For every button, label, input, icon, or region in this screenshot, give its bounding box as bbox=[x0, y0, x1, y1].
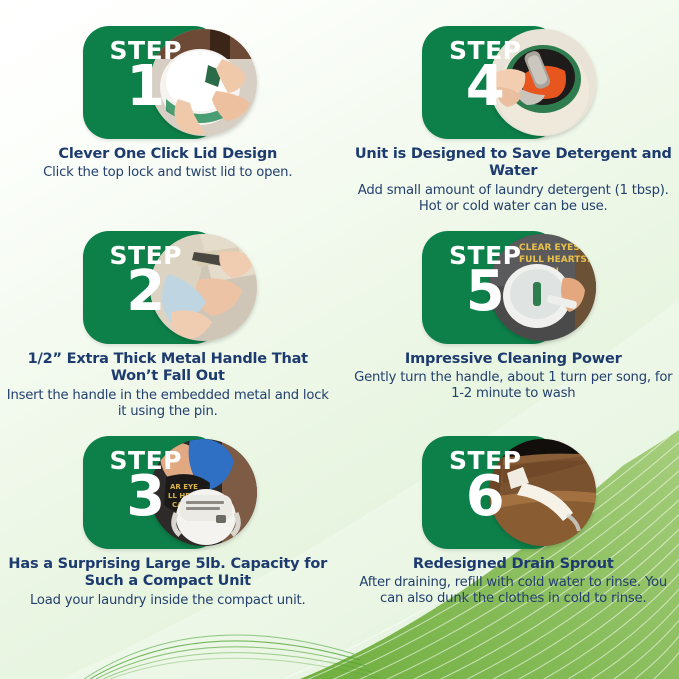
step-title: 1/2” Extra Thick Metal Handle That Won’t… bbox=[4, 351, 332, 386]
step-body: Add small amount of laundry detergent (1… bbox=[350, 183, 678, 215]
badge-text: STEP 4 bbox=[429, 38, 541, 115]
step-caption-1: Clever One Click Lid Design Click the to… bbox=[0, 146, 338, 181]
step-badge-1: STEP 1 bbox=[83, 26, 257, 139]
badge-number-label: 2 bbox=[90, 264, 202, 320]
badge-number-label: 4 bbox=[429, 59, 541, 115]
step-body: Gently turn the handle, about 1 turn per… bbox=[350, 370, 678, 402]
step-caption-3: Has a Surprising Large 5lb. Capacity for… bbox=[0, 556, 338, 609]
steps-grid: STEP 1 bbox=[0, 0, 679, 679]
badge-text: STEP 6 bbox=[429, 448, 541, 525]
badge-number-label: 1 bbox=[90, 59, 202, 115]
step-title: Clever One Click Lid Design bbox=[4, 146, 332, 163]
step-caption-6: Redesigned Drain Sprout After draining, … bbox=[344, 556, 679, 608]
step-caption-2: 1/2” Extra Thick Metal Handle That Won’t… bbox=[0, 351, 338, 420]
step-card-5[interactable]: STEP 5 CLEAR EYES. FULL HEARTS. OSE! bbox=[340, 231, 679, 436]
step-badge-6: STEP 6 bbox=[422, 436, 596, 549]
infographic-canvas: STEP 1 bbox=[0, 0, 679, 679]
step-badge-2: STEP 2 bbox=[83, 231, 257, 344]
step-card-6[interactable]: STEP 6 bbox=[340, 436, 679, 641]
step-card-2[interactable]: STEP 2 bbox=[0, 231, 340, 436]
step-card-4[interactable]: STEP 4 bbox=[340, 26, 679, 231]
step-caption-4: Unit is Designed to Save Detergent and W… bbox=[344, 146, 679, 215]
step-title: Redesigned Drain Sprout bbox=[350, 556, 678, 573]
step-body: Load your laundry inside the compact uni… bbox=[4, 593, 332, 609]
badge-text: STEP 1 bbox=[90, 38, 202, 115]
step-badge-5: STEP 5 CLEAR EYES. FULL HEARTS. OSE! bbox=[422, 231, 596, 344]
step-badge-3: STEP 3 AR EYE LL HEA CA bbox=[83, 436, 257, 549]
step-body: Insert the handle in the embedded metal … bbox=[4, 388, 332, 420]
step-card-1[interactable]: STEP 1 bbox=[0, 26, 340, 231]
step-badge-4: STEP 4 bbox=[422, 26, 596, 139]
step-caption-5: Impressive Cleaning Power Gently turn th… bbox=[344, 351, 679, 403]
badge-text: STEP 5 bbox=[429, 243, 541, 320]
badge-number-label: 6 bbox=[429, 469, 541, 525]
step-title: Has a Surprising Large 5lb. Capacity for… bbox=[4, 556, 332, 591]
step-card-3[interactable]: STEP 3 AR EYE LL HEA CA bbox=[0, 436, 340, 641]
step-body: Click the top lock and twist lid to open… bbox=[4, 165, 332, 181]
step-title: Unit is Designed to Save Detergent and W… bbox=[350, 146, 678, 181]
badge-text: STEP 2 bbox=[90, 243, 202, 320]
badge-number-label: 5 bbox=[429, 264, 541, 320]
step-title: Impressive Cleaning Power bbox=[350, 351, 678, 368]
badge-text: STEP 3 bbox=[90, 448, 202, 525]
step-body: After draining, refill with cold water t… bbox=[350, 575, 678, 607]
badge-number-label: 3 bbox=[90, 469, 202, 525]
